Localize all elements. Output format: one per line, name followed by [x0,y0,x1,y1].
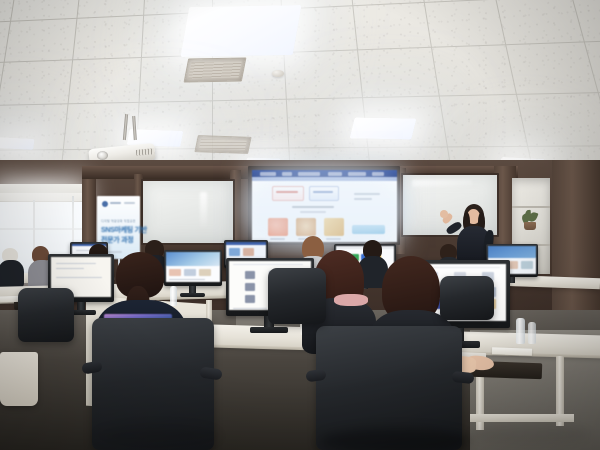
led-panel-front-left [180,5,301,57]
instructor-hand [440,210,448,218]
banner-title-line-1: SNS마케팅 기반 [101,227,147,235]
led-panel-far-left [0,137,35,150]
screen-page-body [252,181,397,242]
chair-armrest-right[interactable] [451,371,474,384]
screen-header-tick [282,172,292,176]
screen-thumb-caption [270,238,285,240]
chair-mid-center[interactable] [268,268,326,324]
water-bottle-right [516,318,525,344]
screen-sub-line [300,211,326,213]
student-torso [0,260,24,288]
ui-icon-cell [245,295,255,303]
classroom-photo: 디지털 역량강화 직업훈련 SNS마케팅 기반 전문가 과정 [0,0,600,450]
window-sill [0,228,82,230]
screen-header-tick [328,172,342,176]
water-bottle-right-2 [528,322,536,344]
ui-thumbnail [229,248,240,256]
student-collar [334,294,368,306]
ui-text-line [233,308,267,309]
papers-right [492,347,532,355]
banner-logo-text [110,202,121,204]
screen-card-blue [309,186,339,201]
projection-screen [252,170,397,242]
screen-thumb-2 [296,218,316,236]
banner-partner-logo [124,202,135,204]
screen-header-tick [298,172,320,176]
ui-icon-cell [245,283,255,291]
ui-thumbnail [521,261,533,269]
screen-right-line [354,198,372,200]
screen-thumb-3 [324,218,344,236]
whiteboard-center-left [141,179,235,245]
tote-bag [0,352,38,406]
ui-icon-cell [245,271,255,279]
ui-header-bar [226,242,266,245]
screen-cta-button [352,225,385,234]
desk-shadow [470,424,590,444]
screen-header-tick [372,172,384,176]
chair-mid-right[interactable] [440,276,494,320]
ui-text-line [56,263,96,264]
ui-text-line [233,264,303,265]
student-far-left [0,248,26,288]
air-vent-grille [184,57,247,82]
alcove-shelf [512,206,550,208]
screen-heading-line [292,206,334,208]
air-vent-grille-2 [194,135,251,154]
banner-logo-icon [102,201,108,207]
screen-header-tick [348,172,366,176]
whiteboard-glare-right [412,180,472,187]
screen-card-blue-text [313,191,333,193]
ui-thumbnail [243,248,254,256]
screen-card-red-text [276,191,298,193]
ui-text-line [56,268,84,269]
sprinkler-head-icon [272,70,284,77]
window-blind [0,193,82,202]
plant-pot [524,222,536,230]
monitor-base [250,327,288,333]
whiteboard-glare [200,192,207,228]
desk-shelf-front [470,414,574,422]
ui-thumbnail [199,269,211,276]
led-panel-mid-right [350,117,417,139]
banner-subtitle: 디지털 역량강화 직업훈련 [101,219,136,223]
screen-header-tick [260,172,276,176]
chair-mid-left[interactable] [18,288,74,342]
screen-thumb-1 [268,218,288,236]
chair-shadow-2 [96,424,220,448]
screen-right-line [354,193,380,195]
ui-hero-image [488,246,536,258]
screen-card-red [272,186,304,201]
projector-lens-icon [97,151,108,160]
chair-shadow [320,428,470,450]
